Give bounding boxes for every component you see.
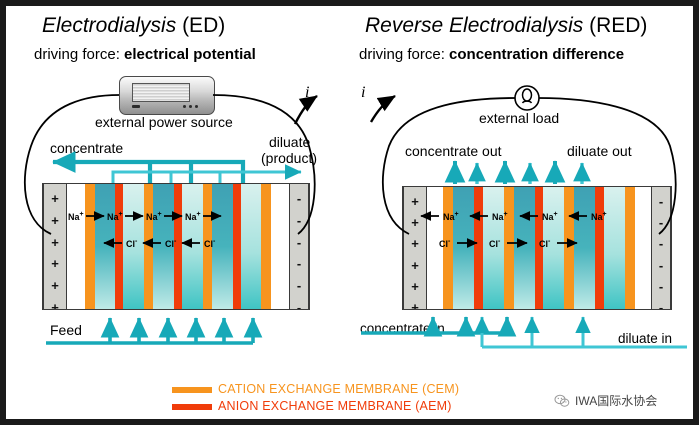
ed-feed-label: Feed (50, 322, 82, 338)
concentrate-channel (453, 187, 474, 309)
ed-na-label: Na+ (146, 211, 162, 222)
ed-current-symbol: i (305, 84, 309, 102)
watermark-text: IWA国际水协会 (575, 392, 657, 409)
screenshot-root: Electrodialysis (ED) driving force: elec… (0, 0, 699, 425)
anion-exchange-membrane (115, 184, 123, 309)
electrode-plus-sign: + (44, 236, 66, 249)
red-outlet-arrows (455, 161, 582, 184)
ed-na-label: Na+ (68, 211, 84, 222)
electrode-plus-sign: + (44, 301, 66, 310)
watermark: IWA国际水协会 (554, 392, 657, 409)
concentrate-channel (95, 184, 115, 309)
electrode-plus-sign: + (44, 192, 66, 205)
psu-dot (195, 105, 198, 108)
diagram-canvas: Electrodialysis (ED) driving force: elec… (6, 6, 693, 419)
external-load-symbol[interactable] (515, 86, 539, 110)
wechat-icon (554, 393, 570, 409)
external-power-source[interactable] (119, 76, 215, 115)
ed-title-italic: Electrodialysis (42, 14, 176, 37)
electrode-minus-sign: - (652, 195, 670, 208)
ed-driving-prefix: driving force: (34, 46, 120, 63)
legend-swatch-aem (172, 404, 212, 410)
red-cathode: ------ (651, 187, 671, 309)
red-cl-label: Cl- (489, 238, 500, 249)
legend-swatch-cem (172, 387, 212, 393)
red-driving-prefix: driving force: (359, 46, 445, 63)
red-title: Reverse Electrodialysis (RED) (365, 14, 647, 38)
electrode-minus-sign: - (652, 280, 670, 293)
anion-exchange-membrane (474, 187, 483, 309)
red-cl-label: Cl- (539, 238, 550, 249)
anion-exchange-membrane (595, 187, 604, 309)
ed-diluate-label-line2: (product) (261, 150, 317, 166)
ed-title: Electrodialysis (ED) (42, 14, 225, 38)
red-cl-label: Cl- (439, 238, 450, 249)
ed-cathode: ------ (289, 184, 309, 309)
electrode-minus-sign: - (290, 236, 308, 249)
ed-concentrate-label: concentrate (50, 140, 123, 156)
diluate-channel (604, 187, 625, 309)
cation-exchange-membrane (504, 187, 514, 309)
electrode-minus-sign: - (652, 301, 670, 310)
red-diluate-out-label: diluate out (567, 143, 632, 159)
ed-device-label: external power source (95, 114, 233, 130)
ed-cl-label: Cl- (165, 238, 176, 249)
red-na-label: Na+ (443, 211, 459, 222)
diluate-channel (241, 184, 261, 309)
red-diluate-in-label: diluate in (618, 331, 672, 346)
red-driving-force: driving force: concentration difference (359, 46, 624, 63)
electrode-plus-sign: + (404, 216, 426, 229)
red-na-label: Na+ (492, 211, 508, 222)
red-concentrate-in-label: concentrate in (360, 321, 445, 336)
electrode-minus-sign: - (290, 257, 308, 270)
cation-exchange-membrane (261, 184, 271, 309)
ed-driving-value: electrical potential (124, 46, 256, 63)
electrode-plus-sign: + (404, 259, 426, 272)
red-title-rest: (RED) (589, 14, 647, 37)
electrode-minus-sign: - (652, 216, 670, 229)
ed-diluate-label-line1: diluate (269, 134, 310, 150)
ed-na-label: Na+ (107, 211, 123, 222)
psu-dot (189, 105, 192, 108)
legend-label-aem: ANION EXCHANGE MEMBRANE (AEM) (218, 399, 452, 413)
diluate-channel (182, 184, 202, 309)
electrode-minus-sign: - (290, 214, 308, 227)
electrode-plus-sign: + (404, 195, 426, 208)
psu-display (132, 83, 190, 102)
electrode-minus-sign: - (652, 259, 670, 272)
concentrate-channel (514, 187, 535, 309)
electrode-plus-sign: + (404, 237, 426, 250)
red-device-label: external load (479, 110, 559, 126)
legend-label-cem: CATION EXCHANGE MEMBRANE (CEM) (218, 382, 459, 396)
psu-slot (132, 105, 140, 108)
cation-exchange-membrane (564, 187, 574, 309)
electrode-minus-sign: - (290, 279, 308, 292)
electrode-plus-sign: + (44, 257, 66, 270)
electrode-minus-sign: - (290, 301, 308, 310)
ed-cl-label: Cl- (126, 238, 137, 249)
anion-exchange-membrane (233, 184, 241, 309)
red-driving-value: concentration difference (449, 46, 624, 63)
red-anode: ++++++ (403, 187, 427, 309)
cation-exchange-membrane (85, 184, 95, 309)
ed-cl-label: Cl- (204, 238, 215, 249)
red-current-symbol: i (361, 84, 365, 102)
electrode-minus-sign: - (290, 192, 308, 205)
ed-na-label: Na+ (185, 211, 201, 222)
electrode-plus-sign: + (44, 279, 66, 292)
electrode-plus-sign: + (404, 301, 426, 310)
red-na-label: Na+ (591, 211, 607, 222)
ed-title-rest: (ED) (182, 14, 225, 37)
ed-driving-force: driving force: electrical potential (34, 46, 256, 63)
electrode-plus-sign: + (44, 214, 66, 227)
cation-exchange-membrane (144, 184, 154, 309)
psu-dot (183, 105, 186, 108)
cation-exchange-membrane (625, 187, 635, 309)
concentrate-channel (574, 187, 595, 309)
ed-anode: ++++++ (43, 184, 67, 309)
red-na-label: Na+ (542, 211, 558, 222)
red-concentrate-out-label: concentrate out (405, 143, 502, 159)
electrode-plus-sign: + (404, 280, 426, 293)
red-title-italic: Reverse Electrodialysis (365, 14, 583, 37)
electrode-minus-sign: - (652, 237, 670, 250)
